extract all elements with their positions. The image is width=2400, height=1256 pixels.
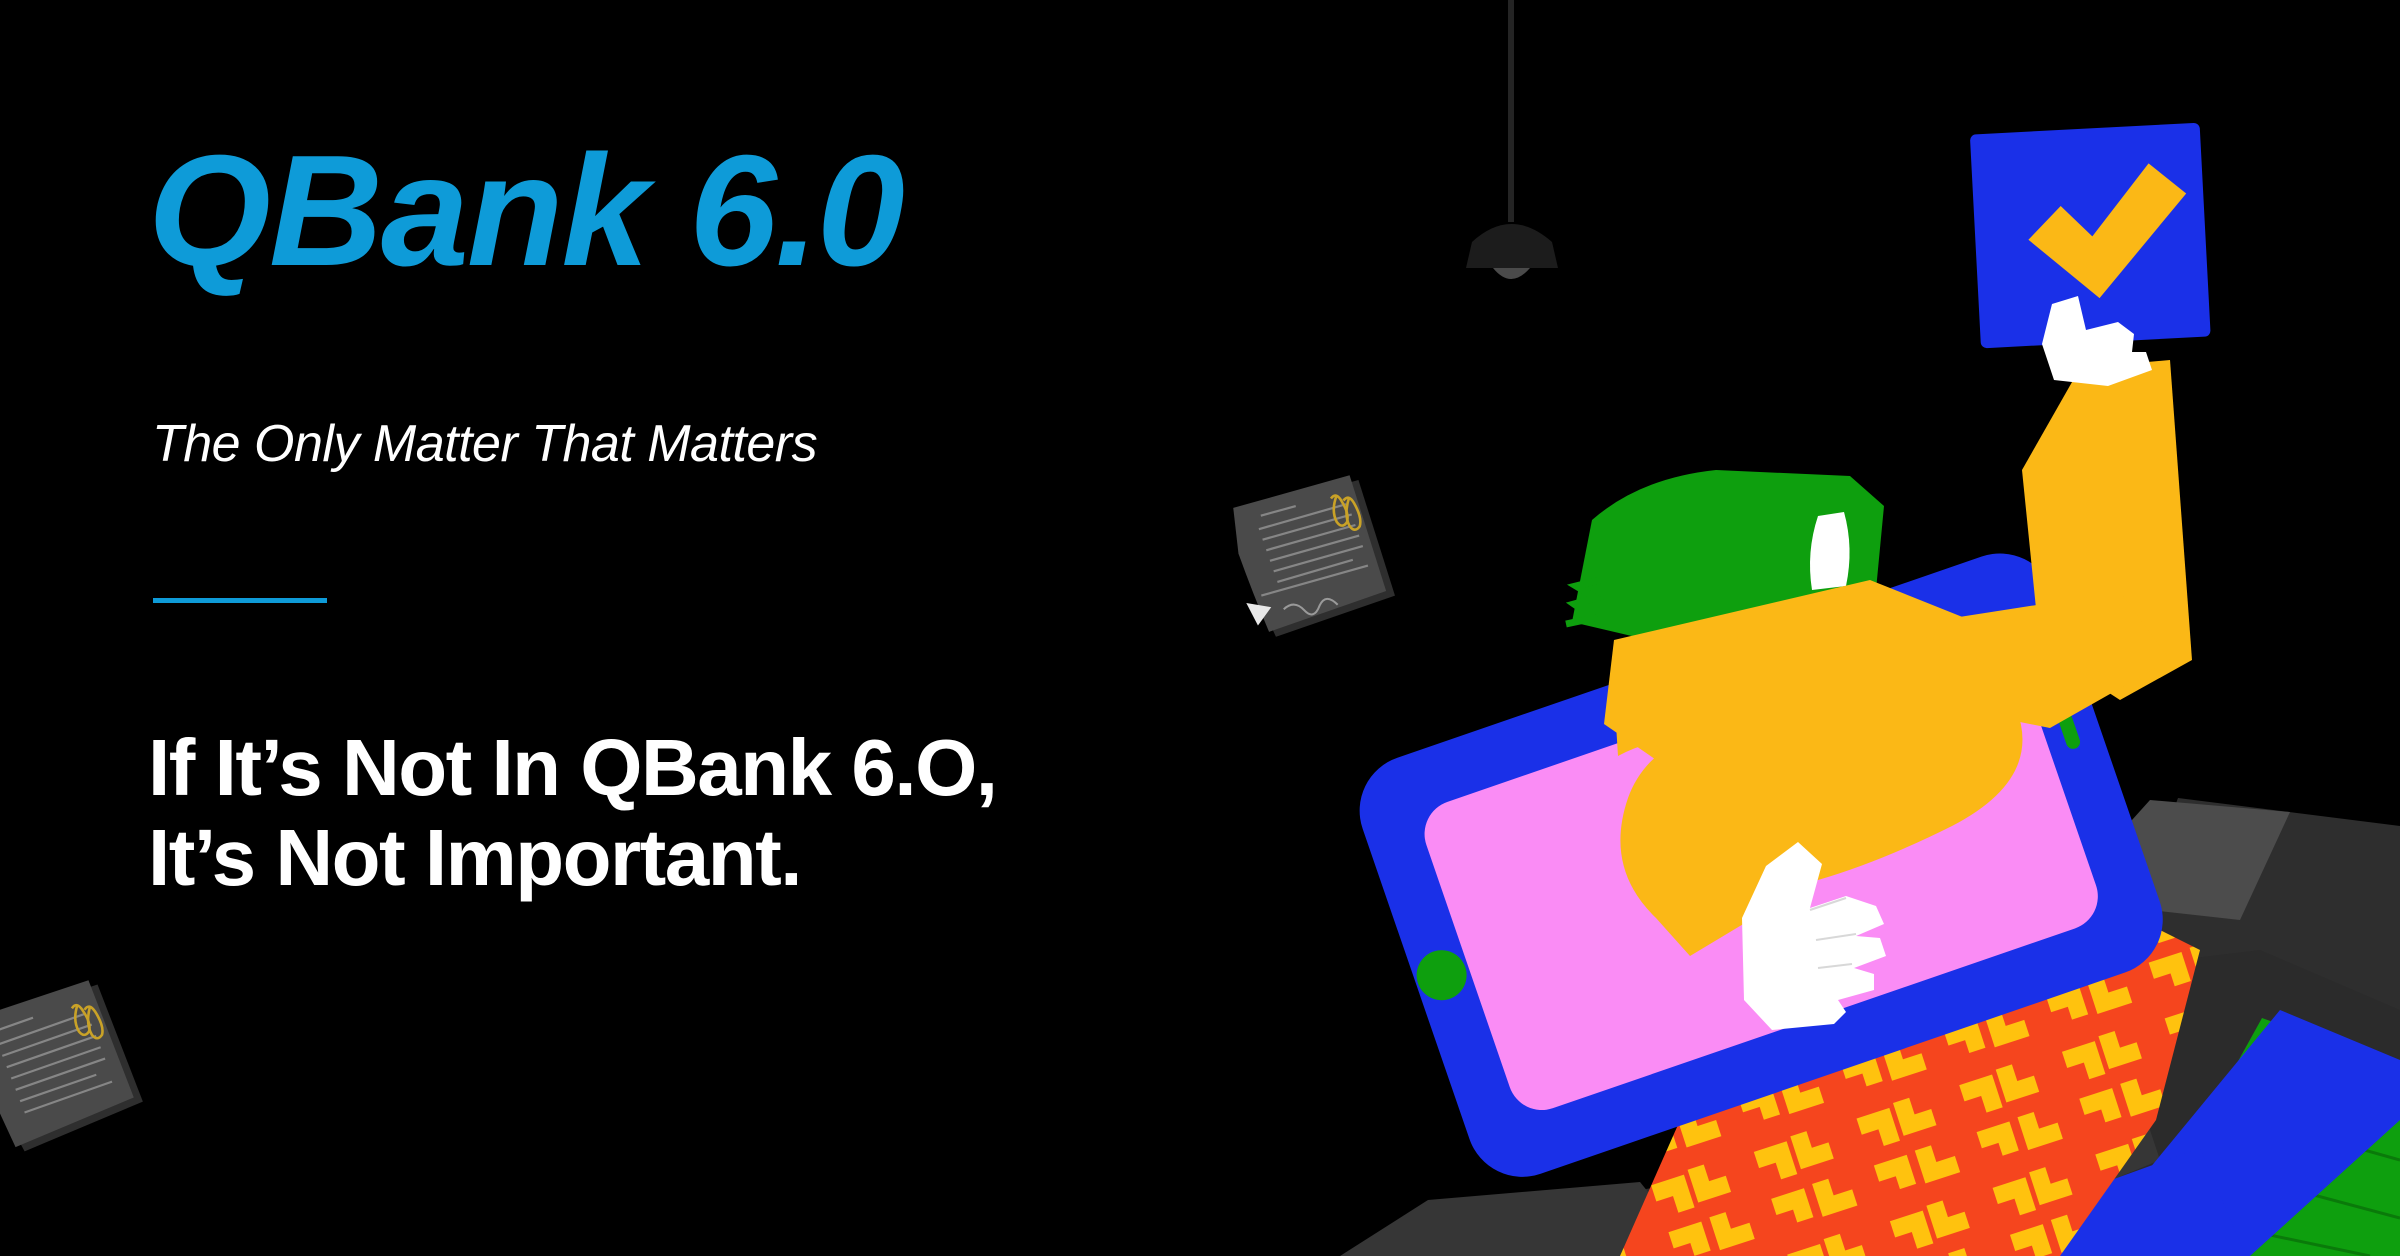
sofa	[1340, 798, 2400, 1256]
checkbox-card	[1970, 123, 2211, 349]
green-cushion	[2130, 1018, 2400, 1256]
tagline: The Only Matter That Matters	[152, 418, 817, 470]
divider	[153, 598, 327, 603]
card-holding-hand	[2042, 296, 2152, 386]
floating-document-left	[0, 974, 148, 1157]
patterned-pants	[1620, 850, 2200, 1256]
phone-side-button	[2032, 640, 2082, 750]
hero-text-block: QBank 6.0 The Only Matter That Matters I…	[148, 0, 1408, 1256]
hero-banner: QBank 6.0 The Only Matter That Matters I…	[0, 0, 2400, 1256]
raised-arm	[1910, 360, 2192, 728]
page-title: QBank 6.0	[148, 132, 903, 290]
body-skin	[1604, 580, 2020, 790]
pendant-lamp-icon	[1466, 0, 1558, 279]
bent-arm	[1612, 628, 2022, 956]
phone	[1344, 538, 2177, 1192]
head-hair	[1566, 470, 1884, 652]
phone-home-button	[1410, 943, 1474, 1007]
pointing-hand	[1742, 842, 1886, 1030]
check-icon	[2025, 161, 2192, 301]
headline: If It’s Not In QBank 6.O, It’s Not Impor…	[148, 723, 997, 904]
paperclip-icon	[71, 1001, 104, 1042]
sleeve-blue	[2050, 1010, 2400, 1256]
